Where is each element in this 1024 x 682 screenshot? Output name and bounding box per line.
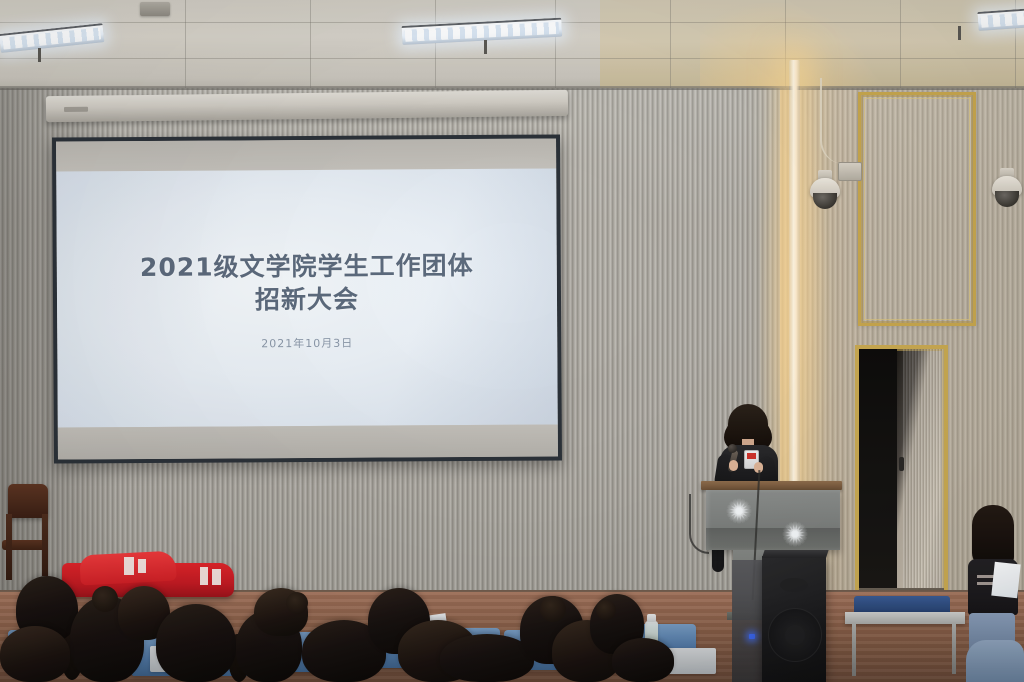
- ceiling-tile: [430, 0, 556, 92]
- chair-leg: [42, 514, 48, 576]
- presenter-hand-left: [729, 460, 738, 471]
- camera-junction-box: [838, 162, 862, 181]
- table-leg: [852, 622, 856, 676]
- ceiling-tile: [545, 0, 671, 92]
- screen-bottom-band: [58, 424, 558, 459]
- wall-trim: [0, 86, 1024, 90]
- ceiling-tile: [185, 0, 311, 92]
- ceiling-light-hanger: [38, 48, 41, 62]
- ceiling-light-hanger: [484, 40, 487, 54]
- projection-screen: 2021级文学院学生工作团体 招新大会 2021年10月3日: [52, 134, 562, 463]
- podium-shading: [706, 528, 840, 550]
- equipment-status-led: [749, 634, 755, 639]
- speaker-tweeter: [780, 578, 808, 592]
- audience-hair-bun: [92, 586, 118, 612]
- speaker-woofer: [768, 608, 822, 662]
- banner-letter: [200, 567, 208, 585]
- phone-case-accent: [747, 453, 756, 459]
- screen-surface: 2021级文学院学生工作团体 招新大会 2021年10月3日: [56, 138, 558, 459]
- slide-title-line-2: 招新大会: [57, 281, 557, 317]
- seated-person-right: [966, 640, 1024, 682]
- pa-loudspeaker: [762, 556, 826, 682]
- speaker-top-face: [762, 550, 829, 558]
- side-table: [845, 612, 965, 624]
- audience-head: [0, 626, 70, 682]
- banner-letter: [212, 569, 221, 585]
- ceiling-light-hanger: [958, 26, 961, 40]
- podium-worktop: [701, 481, 842, 490]
- gold-wall-panel: [858, 92, 976, 326]
- security-camera-right: [992, 168, 1022, 208]
- podium-flower-decal: [726, 498, 752, 524]
- microphone-head-icon: [728, 444, 737, 453]
- banner-letter: [138, 559, 146, 573]
- wooden-side-chair[interactable]: [2, 484, 50, 580]
- slide-title: 2021级文学院学生工作团体 招新大会: [57, 248, 557, 317]
- podium-flower-decal: [782, 521, 808, 547]
- doorway-rear-wall: [903, 349, 944, 604]
- ceiling: [0, 0, 1024, 92]
- banner-letter: [124, 557, 134, 575]
- camera-dome-icon: [813, 193, 837, 209]
- person-hair: [972, 505, 1014, 567]
- projected-slide: 2021级文学院学生工作团体 招新大会 2021年10月3日: [56, 168, 558, 427]
- security-camera-left: [810, 170, 840, 210]
- door-handle-icon[interactable]: [899, 457, 904, 471]
- presenter-hair: [728, 404, 768, 444]
- chair-backrest: [8, 484, 48, 518]
- camera-dome-icon: [995, 191, 1019, 207]
- ceiling-vent: [140, 2, 170, 16]
- chair-leg: [6, 514, 12, 580]
- gold-panel-inner-line: [864, 98, 970, 320]
- camera-cable: [820, 78, 844, 164]
- table-leg: [952, 622, 956, 674]
- screen-top-band: [56, 138, 556, 171]
- held-paper: [991, 562, 1020, 599]
- audience-hair-bun: [596, 600, 616, 620]
- bottle-cap: [647, 614, 656, 622]
- speaker-riser: [732, 560, 764, 682]
- audience-head: [612, 638, 674, 682]
- audience-hair-bun: [540, 596, 566, 622]
- screen-brand-label: [64, 107, 88, 112]
- auditorium-photo: 2021级文学院学生工作团体 招新大会 2021年10月3日: [0, 0, 1024, 682]
- audience-hair-bun: [286, 592, 308, 614]
- door-leaf: [859, 349, 897, 604]
- audience-head: [156, 604, 236, 682]
- open-doorway[interactable]: [855, 345, 948, 608]
- ceiling-tile: [310, 0, 436, 92]
- slide-title-line-1: 2021级文学院学生工作团体: [57, 248, 557, 284]
- slide-date: 2021年10月3日: [57, 333, 557, 352]
